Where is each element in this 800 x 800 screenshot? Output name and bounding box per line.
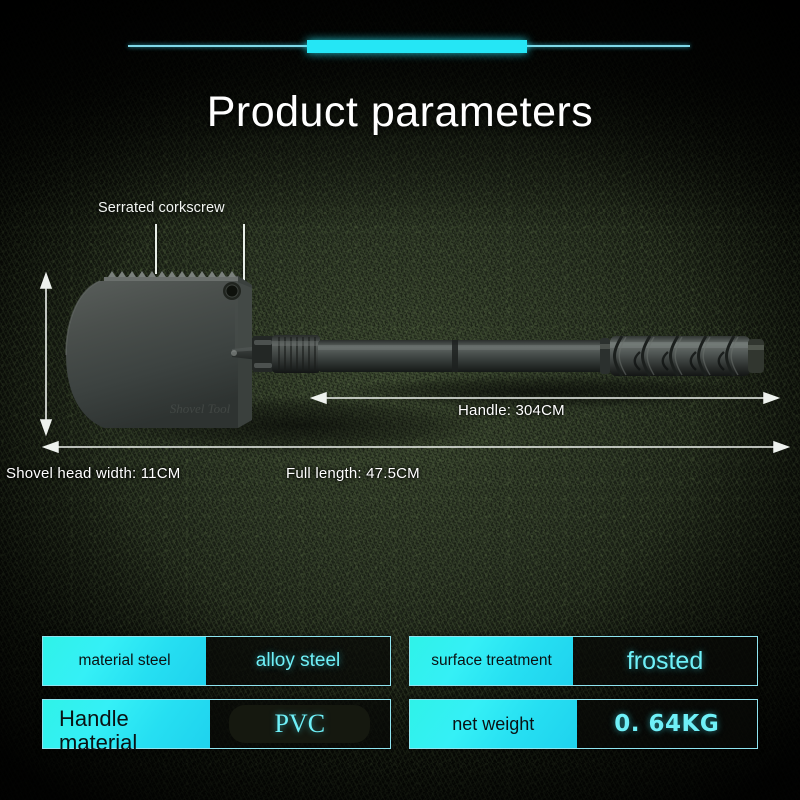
spec-row-net-weight: net weight 0. 64KG	[409, 699, 758, 749]
header-rule-accent-bar	[307, 40, 527, 53]
product-parameters-infographic: Product parameters Serrated corkscrew	[0, 0, 800, 800]
spec-value-material-steel: alloy steel	[206, 637, 390, 685]
callout-leader-line-right	[243, 224, 245, 284]
spec-row-surface-treatment: surface treatment frosted	[409, 636, 758, 686]
dimension-label-full-length: Full length: 47.5CM	[286, 465, 420, 482]
page-title: Product parameters	[0, 88, 800, 137]
dimension-label-handle: Handle: 304CM	[458, 402, 565, 419]
spec-key-label: surface treatment	[425, 653, 558, 669]
spec-key-label: net weight	[446, 715, 540, 734]
spec-key-handle-material: Handle material	[43, 700, 210, 748]
spec-key-label: Handle material	[43, 707, 210, 755]
spec-key-material-steel: material steel	[43, 637, 206, 685]
spec-key-label-line2: material	[59, 731, 204, 755]
header-rule	[0, 40, 800, 54]
spec-value-handle-material: PVC	[210, 700, 390, 748]
spec-key-surface-treatment: surface treatment	[410, 637, 573, 685]
spec-value-pill: PVC	[229, 705, 370, 742]
callout-leader-line-left	[155, 224, 157, 274]
spec-value-surface-treatment: frosted	[573, 637, 757, 685]
spec-key-net-weight: net weight	[410, 700, 577, 748]
dimension-label-shovel-head-width: Shovel head width: 11CM	[6, 465, 180, 482]
callout-serrated-corkscrew-label: Serrated corkscrew	[98, 200, 225, 216]
spec-row-handle-material: Handle material PVC	[42, 699, 391, 749]
spec-key-label-line1: Handle	[59, 706, 129, 731]
spec-table: material steel alloy steel surface treat…	[42, 636, 758, 749]
spec-value-net-weight: 0. 64KG	[577, 700, 757, 748]
spec-key-label: material steel	[72, 653, 176, 669]
spec-row-material-steel: material steel alloy steel	[42, 636, 391, 686]
